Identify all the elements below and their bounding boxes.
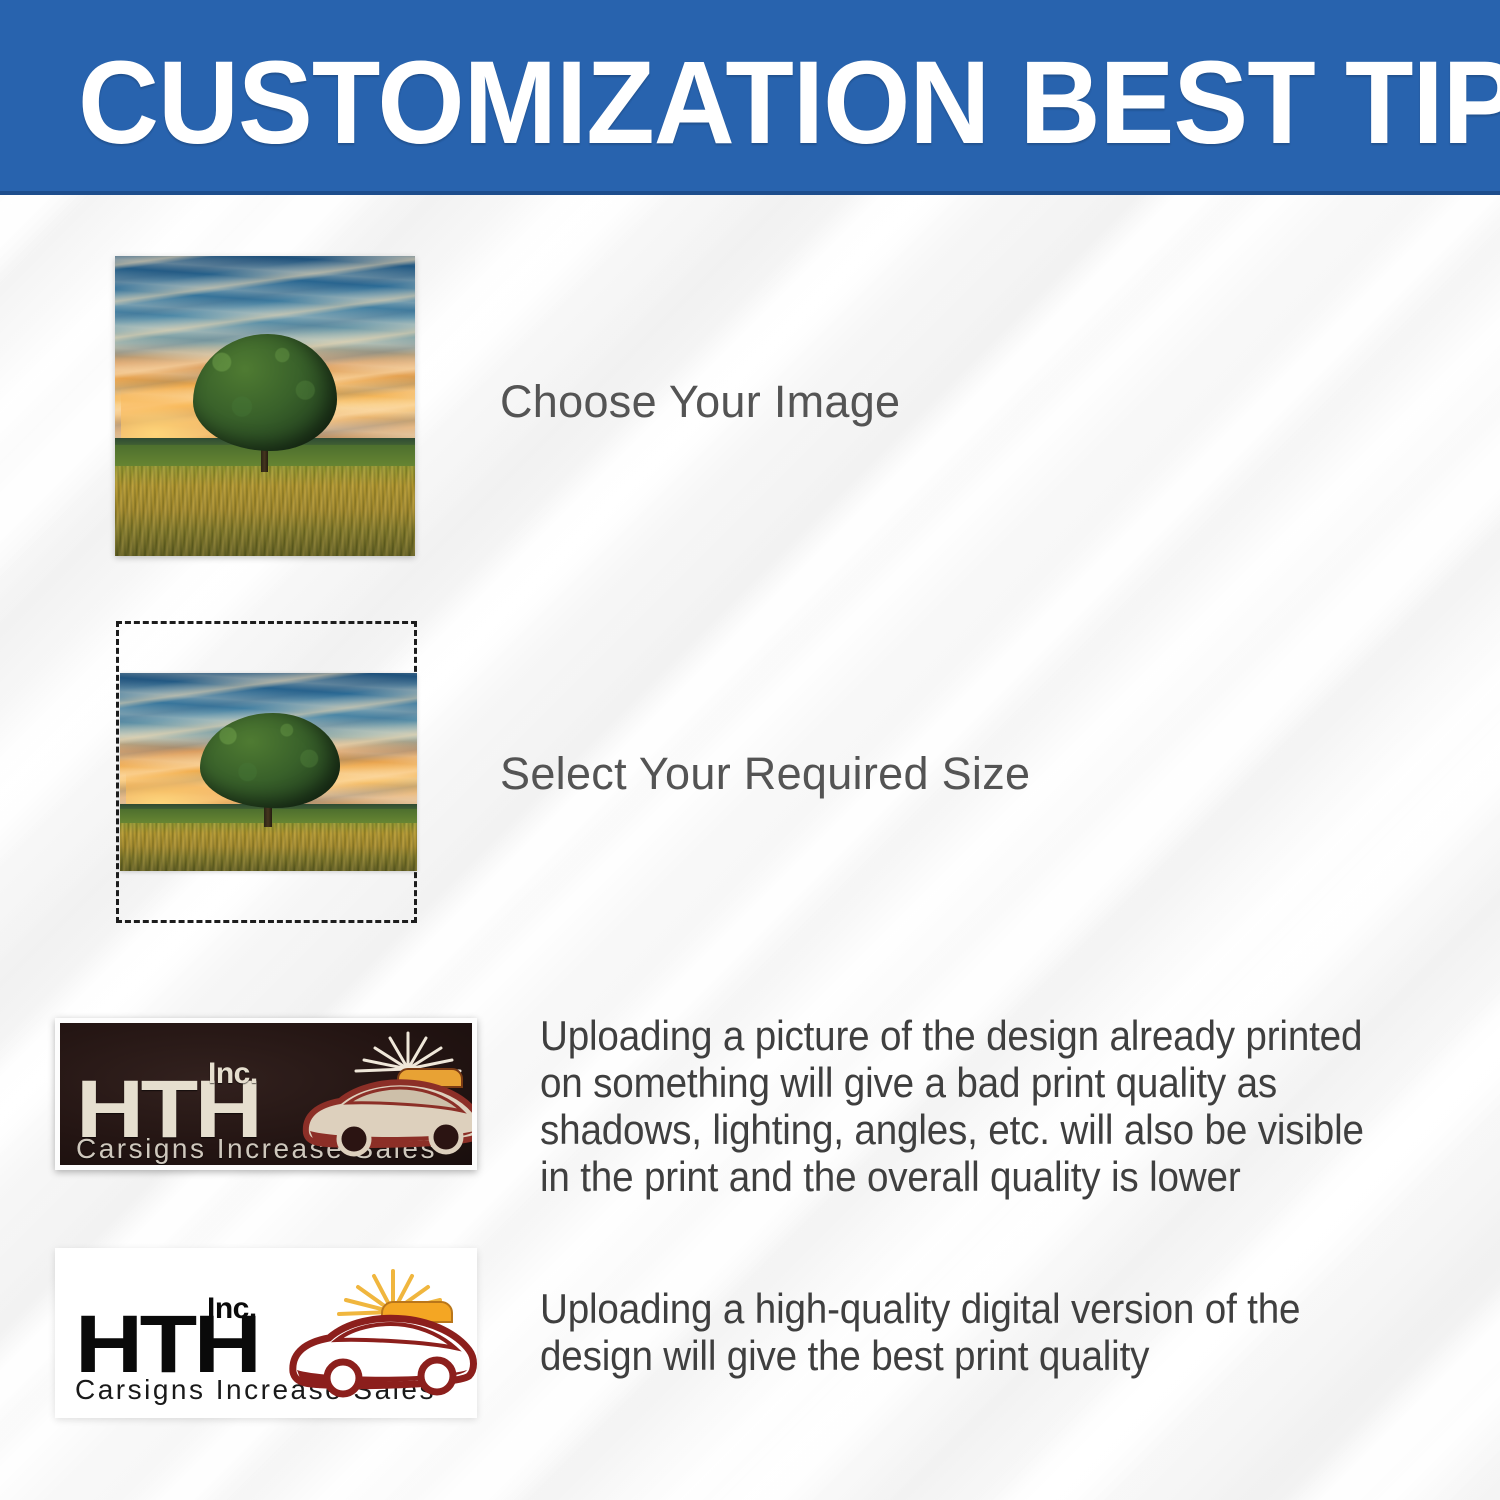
caption-select-size: Select Your Required Size [500,748,1030,800]
landscape-sunset-tree-photo [120,673,417,871]
wheat-highlights [115,466,415,556]
line: in the print and the overall quality is … [540,1153,1500,1200]
car-icon-light [283,1296,477,1404]
line: Uploading a picture of the design alread… [540,1012,1500,1059]
line: Uploading a high-quality digital version… [540,1285,1460,1332]
header-banner: CUSTOMIZATION BEST TIPS [0,0,1500,195]
comparison-text-good-quality: Uploading a high-quality digital version… [540,1285,1460,1379]
car-icon-dark [296,1061,477,1161]
hth-inc-text-dark: Inc. [208,1059,258,1089]
sunset-tree-scene [115,256,415,556]
infographic-page: CUSTOMIZATION BEST TIPS Choose Your Imag… [0,0,1500,1500]
wheat-highlights [120,823,417,871]
hth-logo-photographed-banner: HTH Inc. Carsigns Increase Sales [55,1018,477,1170]
comparison-text-bad-quality: Uploading a picture of the design alread… [540,1012,1500,1200]
hth-logo-digital-vector: HTH Inc. Carsigns Increase Sales [55,1248,477,1418]
square-sunset-tree-photo [115,256,415,556]
line: shadows, lighting, angles, etc. will als… [540,1106,1500,1153]
sunset-tree-scene-wide [120,673,417,871]
caption-choose-image: Choose Your Image [500,376,900,428]
hth-inc-text-light: Inc. [207,1294,257,1324]
line: design will give the best print quality [540,1332,1460,1379]
page-title: CUSTOMIZATION BEST TIPS [78,44,1500,162]
line: on something will give a bad print quali… [540,1059,1500,1106]
